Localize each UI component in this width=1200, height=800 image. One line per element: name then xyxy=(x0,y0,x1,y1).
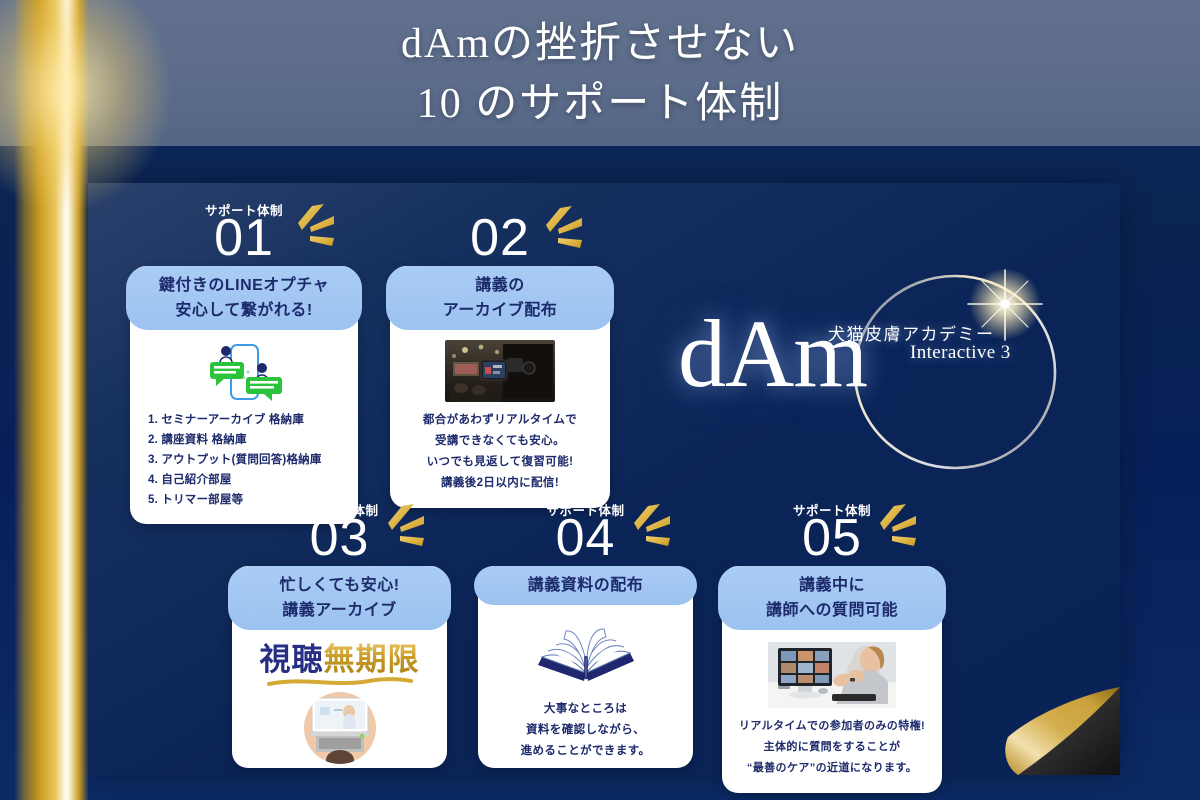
list-item: 4. 自己紹介部屋 xyxy=(148,470,346,490)
starburst-icon xyxy=(372,504,426,556)
support-card-03[interactable]: サポート体制 03 忙しくても安心! 講義アーカイブ 視聴無期限 xyxy=(232,500,447,768)
card-description: 都合があわずリアルタイムで 受講できなくても安心。 いつでも見返して復習可能! … xyxy=(402,410,598,494)
badge-navy-text: 視聴 xyxy=(260,642,324,677)
dam-logo: dAm 犬猫皮膚アカデミー Interactive 3 xyxy=(660,262,1080,502)
laptop-lecture-photo xyxy=(304,692,376,764)
starburst-icon xyxy=(530,206,584,258)
card-title: 忙しくても安心! 講義アーカイブ xyxy=(228,566,451,630)
page-curl-icon xyxy=(1000,655,1120,775)
badge-gold-text: 無期限 xyxy=(324,642,420,677)
page-title: dAmの挫折させない 10 のサポート体制 xyxy=(0,14,1200,134)
card-body-05: 講義中に 講師への質問可能 xyxy=(722,566,942,793)
line-chat-icon xyxy=(198,342,290,404)
card-title: 鍵付きのLINEオプチャ 安心して繋がれる! xyxy=(126,266,362,330)
starburst-icon xyxy=(282,204,336,256)
card-list: 1. セミナーアーカイブ 格納庫 2. 講座資料 格納庫 3. アウトプット(質… xyxy=(142,410,346,510)
card-number-head: サポート体制 02 xyxy=(390,200,610,266)
card-number-head: サポート体制 04 xyxy=(478,500,693,566)
support-card-02[interactable]: サポート体制 02 講義の アーカイブ配布 xyxy=(390,200,610,508)
starburst-icon xyxy=(864,504,918,556)
list-item: 1. セミナーアーカイブ 格納庫 xyxy=(148,410,346,430)
card-description: リアルタイムでの参加者のみの特権! 主体的に質問をすることが “最善のケア”の近… xyxy=(734,716,930,779)
card-number-head: サポート体制 05 xyxy=(722,500,942,566)
logo-wordmark: dAm xyxy=(678,300,867,408)
list-item: 2. 講座資料 格納庫 xyxy=(148,430,346,450)
card-body-02: 講義の アーカイブ配布 xyxy=(390,266,610,508)
card-body-04: 講義資料の配布 大事なところは 資料を確認しながら、 進めることができます。 xyxy=(478,566,693,768)
support-card-04[interactable]: サポート体制 04 講義資料の配布 xyxy=(478,500,693,768)
open-book-icon xyxy=(532,619,640,691)
card-title: 講義の アーカイブ配布 xyxy=(386,266,614,330)
support-card-01[interactable]: サポート体制 01 鍵付きのLINEオプチャ 安心して繋がれる! xyxy=(130,200,358,524)
card-body-01: 鍵付きのLINEオプチャ 安心して繋がれる! xyxy=(130,266,358,524)
card-title: 講義中に 講師への質問可能 xyxy=(718,566,946,630)
viewing-unlimited-badge: 視聴無期限 xyxy=(244,642,435,678)
card-body-03: 忙しくても安心! 講義アーカイブ 視聴無期限 xyxy=(232,566,447,768)
video-camera-photo xyxy=(445,340,555,402)
list-item: 3. アウトプット(質問回答)格納庫 xyxy=(148,450,346,470)
header-band: dAmの挫折させない 10 のサポート体制 xyxy=(0,0,1200,146)
card-description: 大事なところは 資料を確認しながら、 進めることができます。 xyxy=(490,699,681,762)
card-title: 講義資料の配布 xyxy=(474,566,697,605)
card-number-head: サポート体制 03 xyxy=(232,500,447,566)
starburst-icon xyxy=(618,504,672,556)
card-number-head: サポート体制 01 xyxy=(130,200,358,266)
gold-accent-stripe xyxy=(14,0,88,800)
infographic-slide: dAmの挫折させない 10 のサポート体制 xyxy=(0,0,1200,800)
logo-english-tagline: Interactive 3 xyxy=(910,342,1011,364)
video-conference-photo xyxy=(768,642,896,708)
support-card-05[interactable]: サポート体制 05 講義中に 講師への質問可能 xyxy=(722,500,942,793)
